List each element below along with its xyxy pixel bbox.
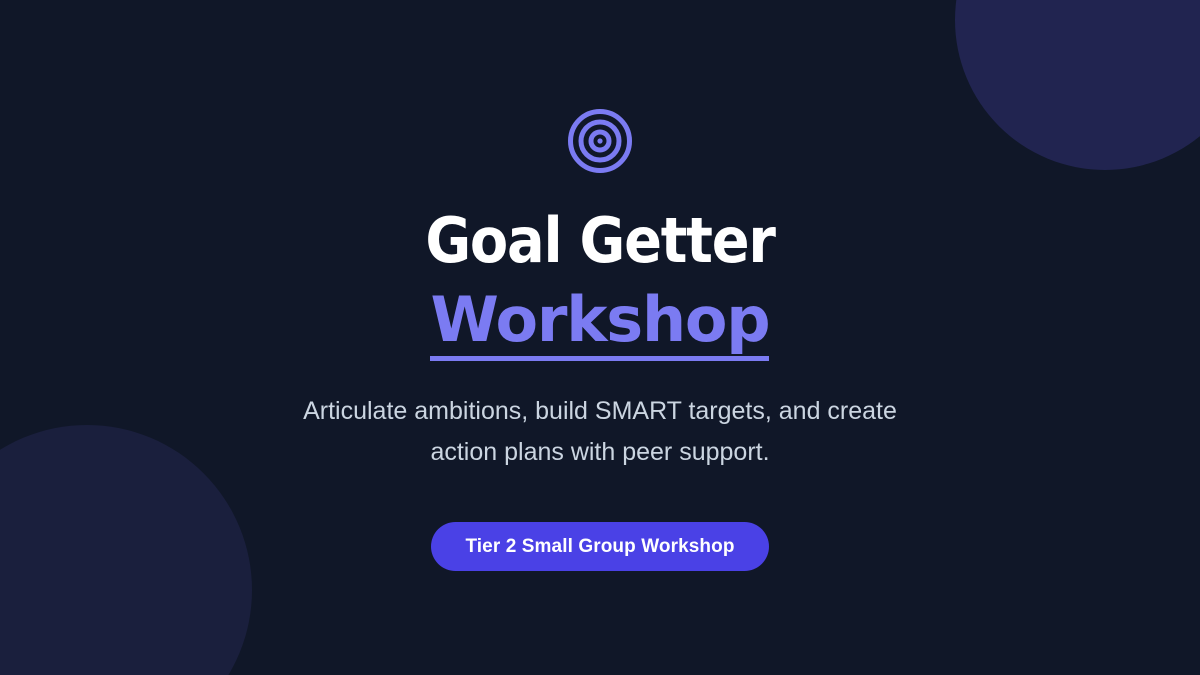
subtitle-line-2: action plans with peer support. bbox=[303, 432, 897, 473]
tier-badge-button[interactable]: Tier 2 Small Group Workshop bbox=[431, 522, 768, 571]
page-title: Goal Getter Workshop bbox=[425, 210, 774, 361]
subtitle: Articulate ambitions, build SMART target… bbox=[303, 391, 897, 473]
slide-content: Goal Getter Workshop Articulate ambition… bbox=[0, 0, 1200, 675]
headline-accent-text: Workshop bbox=[430, 283, 769, 356]
headline-line-accent: Workshop bbox=[430, 289, 769, 361]
target-icon bbox=[567, 108, 633, 174]
headline-underline bbox=[430, 356, 769, 361]
slide-canvas: Goal Getter Workshop Articulate ambition… bbox=[0, 0, 1200, 675]
subtitle-line-1: Articulate ambitions, build SMART target… bbox=[303, 391, 897, 432]
headline-line-primary: Goal Getter bbox=[425, 210, 774, 272]
